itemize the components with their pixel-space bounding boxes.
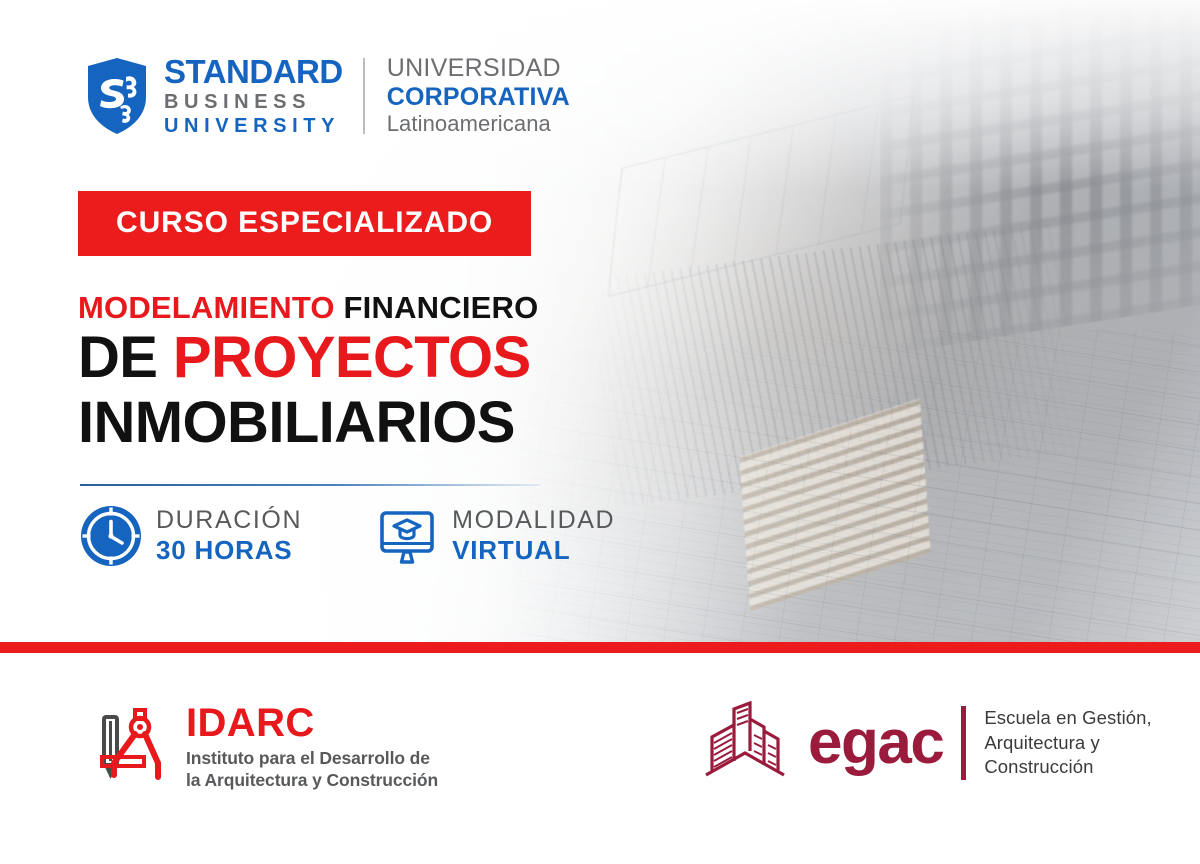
idarc-wordmark: IDARC Instituto para el Desarrollo de la… bbox=[186, 703, 438, 791]
monitor-graduation-cap-icon bbox=[376, 505, 438, 567]
sbu-business-text: BUSINESS bbox=[164, 92, 343, 112]
idarc-logo: IDARC Instituto para el Desarrollo de la… bbox=[88, 703, 438, 791]
idarc-tagline: Instituto para el Desarrollo de la Arqui… bbox=[186, 748, 438, 791]
logo-divider bbox=[363, 58, 365, 134]
modality-label: MODALIDAD bbox=[452, 507, 615, 534]
title-word-proyectos: PROYECTOS bbox=[173, 325, 531, 390]
uc-wordmark: UNIVERSIDAD CORPORATIVA Latinoamericana bbox=[387, 55, 570, 135]
footer-section: IDARC Instituto para el Desarrollo de la… bbox=[0, 653, 1200, 864]
clock-icon bbox=[80, 505, 142, 567]
egac-tagline: Escuela en Gestión, Arquitectura y Const… bbox=[984, 706, 1151, 780]
idarc-name: IDARC bbox=[186, 703, 438, 743]
duration-label: DURACIÓN bbox=[156, 507, 302, 534]
egac-name: egac bbox=[808, 715, 943, 771]
title-word-modelamiento: MODELAMIENTO bbox=[78, 290, 335, 325]
sbu-university-text: UNIVERSITY bbox=[164, 116, 343, 136]
title-word-financiero: FINANCIERO bbox=[335, 290, 539, 325]
egac-tagline-line-1: Escuela en Gestión, bbox=[984, 707, 1151, 728]
duration-value: 30 HORAS bbox=[156, 536, 302, 564]
course-meta-row: DURACIÓN 30 HORAS MODALIDAD VIRTUAL bbox=[80, 505, 615, 567]
compass-pencil-icon bbox=[88, 703, 172, 791]
sbu-standard-text: STANDARD bbox=[164, 55, 343, 88]
egac-divider bbox=[961, 706, 966, 780]
uc-latinoamericana-text: Latinoamericana bbox=[387, 112, 570, 135]
idarc-tagline-line-1: Instituto para el Desarrollo de bbox=[186, 748, 430, 768]
buildings-skyline-icon bbox=[700, 701, 790, 785]
sbu-wordmark: STANDARD BUSINESS UNIVERSITY bbox=[164, 55, 343, 136]
title-word-de: DE bbox=[78, 325, 173, 390]
egac-tagline-line-3: Construcción bbox=[984, 756, 1093, 777]
course-flyer: STANDARD BUSINESS UNIVERSITY UNIVERSIDAD… bbox=[0, 0, 1200, 864]
course-type-badge: CURSO ESPECIALIZADO bbox=[78, 191, 531, 256]
egac-tagline-line-2: Arquitectura y bbox=[984, 732, 1100, 753]
course-title: MODELAMIENTO FINANCIERO DE PROYECTOS INM… bbox=[78, 292, 538, 454]
title-underline-rule bbox=[80, 484, 540, 486]
course-type-label: CURSO ESPECIALIZADO bbox=[116, 206, 493, 239]
red-divider-bar bbox=[0, 642, 1200, 653]
brand-lockup: STANDARD BUSINESS UNIVERSITY UNIVERSIDAD… bbox=[86, 55, 570, 136]
shield-lion-icon bbox=[86, 57, 148, 135]
meta-modality-text: MODALIDAD VIRTUAL bbox=[452, 507, 615, 564]
course-title-line-3: INMOBILIARIOS bbox=[78, 392, 538, 453]
course-title-line-1: MODELAMIENTO FINANCIERO bbox=[78, 292, 538, 323]
meta-modality: MODALIDAD VIRTUAL bbox=[376, 505, 615, 567]
course-title-line-2: DE PROYECTOS bbox=[78, 327, 538, 388]
meta-duration-text: DURACIÓN 30 HORAS bbox=[156, 507, 302, 564]
uc-corporativa-text: CORPORATIVA bbox=[387, 84, 570, 111]
egac-logo: egac Escuela en Gestión, Arquitectura y … bbox=[700, 701, 1152, 785]
title-word-inmobiliarios: INMOBILIARIOS bbox=[78, 390, 515, 455]
meta-duration: DURACIÓN 30 HORAS bbox=[80, 505, 302, 567]
uc-universidad-text: UNIVERSIDAD bbox=[387, 55, 570, 82]
idarc-tagline-line-2: la Arquitectura y Construcción bbox=[186, 770, 438, 790]
modality-value: VIRTUAL bbox=[452, 536, 615, 564]
